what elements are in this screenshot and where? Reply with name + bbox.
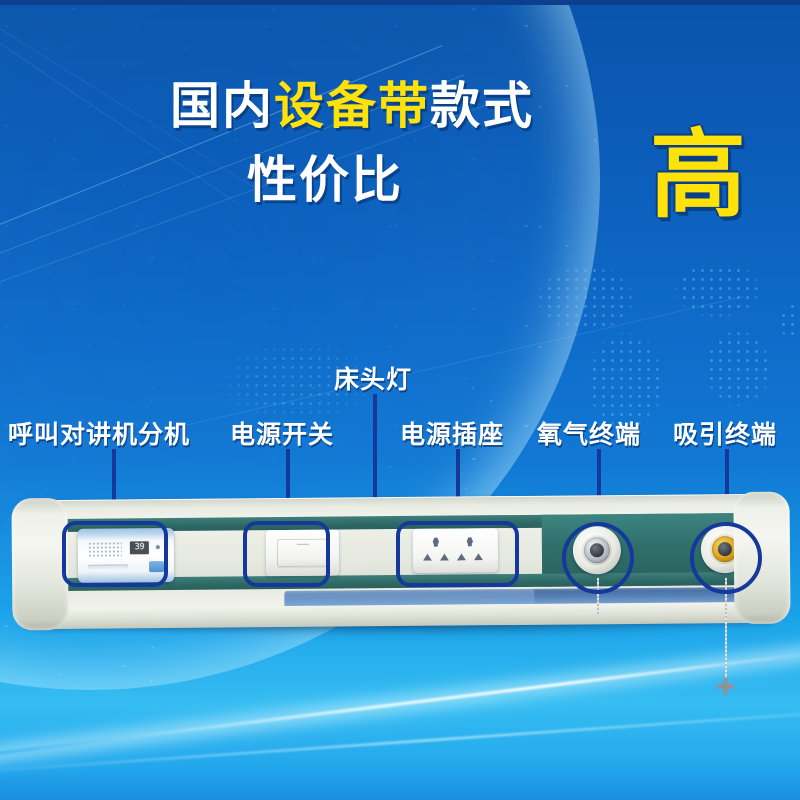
callout-label-bed-head-lamp: 床头灯 xyxy=(334,360,412,396)
callout-label-nurse-call-intercom: 呼叫对讲机分机 xyxy=(8,415,190,451)
highlight-circle-oxygen-terminal xyxy=(562,522,634,594)
panel-end-cap-left xyxy=(11,498,68,630)
beam-line xyxy=(0,75,464,269)
beam-line xyxy=(0,22,270,198)
highlight-circle-suction-terminal xyxy=(690,522,762,594)
beam-line xyxy=(0,45,442,241)
headline-emphasis-word: 高 xyxy=(650,128,746,224)
top-edge-bar xyxy=(0,0,800,5)
callout-label-power-socket: 电源插座 xyxy=(400,415,504,451)
callout-label-suction-terminal: 吸引终端 xyxy=(673,415,777,451)
highlight-box-power-socket xyxy=(396,521,519,587)
beam-line xyxy=(0,104,486,296)
light-beams xyxy=(0,0,800,800)
callout-label-power-switch: 电源开关 xyxy=(230,415,334,451)
highlight-box-power-switch xyxy=(243,521,330,587)
highlight-box-nurse-call-intercom xyxy=(62,521,168,587)
promo-banner: 国内设备带款式 性价比 高 呼叫对讲机分机 电源开关 床头灯 电源插座 氧气终端… xyxy=(0,0,800,800)
beam-line xyxy=(0,36,239,205)
callout-label-oxygen-terminal: 氧气终端 xyxy=(537,415,641,451)
